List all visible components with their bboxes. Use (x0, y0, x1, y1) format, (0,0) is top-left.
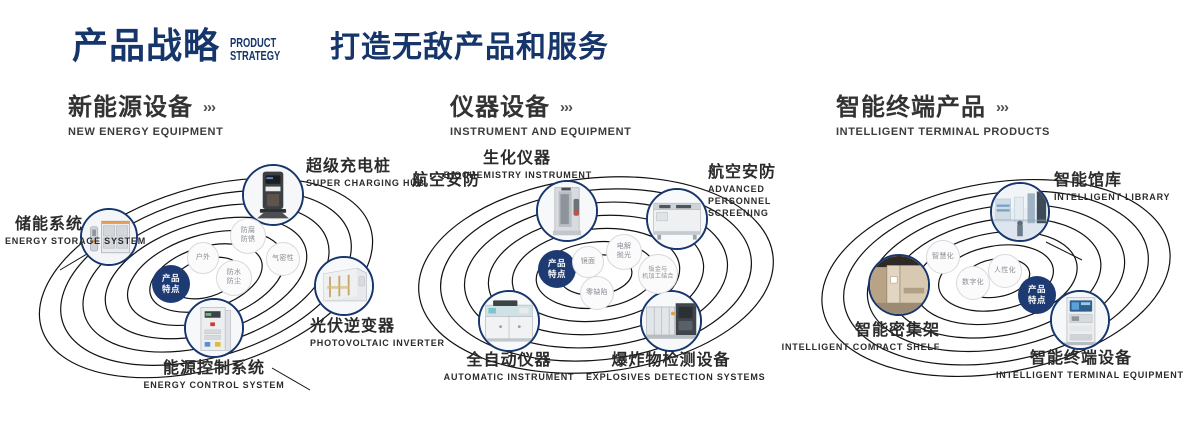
explosives-detector-icon (642, 292, 700, 350)
feature-bubble-zero-defect: 零缺陷 (580, 276, 614, 310)
page-title: 产品战略 PRODUCT STRATEGY (72, 28, 300, 64)
feature-core-bubble: 产品 特点 (538, 250, 576, 288)
feature-bubble-digital: 数字化 (956, 266, 990, 300)
section-heading-new-energy: 新能源设备 ››› NEW ENERGY EQUIPMENT (68, 95, 223, 138)
node-automatic-analyzer[interactable] (478, 290, 540, 352)
label-cn: 爆炸物检测设备 (586, 352, 756, 370)
section-title-en-intelligent-terminal: INTELLIGENT TERMINAL PRODUCTS (836, 126, 1050, 138)
node-self-service-kiosk[interactable] (1050, 290, 1110, 350)
library-room-icon (992, 184, 1048, 240)
label-explosives-detection-systems: 爆炸物检测设备 EXPLOSIVES DETECTION SYSTEMS (586, 352, 756, 384)
label-cn: 智能密集架 (780, 322, 940, 340)
label-en: ADVANCED PERSONNEL SCREENING (708, 184, 814, 219)
node-control-cabinet[interactable] (184, 298, 244, 358)
feature-core-bubble: 产品 特点 (1018, 276, 1056, 314)
feature-bubble-electropolishing: 电解 抛光 (606, 234, 642, 270)
cluster-intelligent-terminal: 智能馆库 INTELLIGENT LIBRARY 智能密集架 INTELLIGE… (800, 150, 1200, 400)
biochemistry-scanner-icon (538, 182, 596, 240)
node-library-room[interactable] (990, 182, 1050, 242)
label-en: INTELLIGENT LIBRARY (1054, 192, 1170, 204)
section-title-en-new-energy: NEW ENERGY EQUIPMENT (68, 126, 223, 138)
label-automatic-instrument: 全自动仪器 AUTOMATIC INSTRUMENT (424, 352, 594, 384)
label-biochemistry-instrument: 生化仪器 BIOCHEMISTRY INSTRUMENT (442, 150, 592, 182)
node-inverter-cabinet[interactable] (314, 256, 374, 316)
feature-line-1: 智慧化 (932, 253, 954, 262)
feature-line-2: 防锈 (241, 236, 256, 245)
page-title-cn: 产品战略 (72, 28, 220, 64)
label-energy-storage-system: 储能系统 ENERGY STORAGE SYSTEM (5, 216, 83, 248)
feature-line-1: 零缺陷 (586, 289, 608, 298)
cluster-new-energy: 储能系统 ENERGY STORAGE SYSTEM 超级充电桩 SUPER C… (10, 150, 410, 400)
label-intelligent-terminal-equipment: 智能终端设备 INTELLIGENT TERMINAL EQUIPMENT (996, 350, 1166, 382)
node-compact-shelf[interactable] (868, 254, 930, 316)
label-en: AUTOMATIC INSTRUMENT (424, 372, 594, 384)
label-en: ENERGY CONTROL SYSTEM (134, 380, 294, 392)
chevron-right-icon: ››› (560, 100, 572, 117)
label-cn: 能源控制系统 (134, 360, 294, 378)
automatic-analyzer-icon (480, 292, 538, 350)
core-line-1: 产品 (548, 258, 566, 269)
node-biochemistry-scanner[interactable] (536, 180, 598, 242)
label-intelligent-library: 智能馆库 INTELLIGENT LIBRARY (1054, 172, 1170, 204)
core-line-2: 特点 (162, 284, 180, 295)
page-title-en-line2: STRATEGY (230, 49, 280, 62)
feature-line-1: 户外 (196, 254, 211, 263)
label-en: EXPLOSIVES DETECTION SYSTEMS (586, 372, 756, 384)
core-line-1: 产品 (162, 273, 180, 284)
feature-line-2: 抛光 (617, 252, 632, 261)
node-screening-machine[interactable] (646, 188, 708, 250)
feature-bubble-waterproof: 防水 防尘 (216, 260, 252, 296)
label-en: INTELLIGENT TERMINAL EQUIPMENT (996, 370, 1166, 382)
screening-machine-icon (648, 190, 706, 248)
self-service-kiosk-icon (1052, 292, 1108, 348)
core-line-2: 特点 (1028, 295, 1046, 306)
node-charging-pile[interactable] (242, 164, 304, 226)
feature-bubble-mirror: 镜面 (572, 246, 604, 278)
section-title-cn-intelligent-terminal: 智能终端产品 (836, 95, 986, 121)
feature-bubble-humanized: 人性化 (988, 254, 1022, 288)
label-en: BIOCHEMISTRY INSTRUMENT (442, 170, 592, 182)
label-cn: 生化仪器 (442, 150, 592, 168)
feature-line-1: 人性化 (994, 267, 1016, 276)
page-subtitle: 打造无敌产品和服务 (330, 30, 609, 66)
feature-line-1: 钣金与 (649, 267, 668, 275)
feature-bubble-outdoor: 户外 (187, 242, 219, 274)
feature-line-1: 数字化 (962, 279, 984, 288)
control-cabinet-icon (186, 300, 242, 356)
feature-bubble-anticorrosion: 防腐 防锈 (230, 218, 266, 254)
feature-line-1: 气密性 (272, 255, 294, 264)
label-cn: 航空安防 (708, 164, 814, 182)
feature-bubble-smart: 智慧化 (926, 240, 960, 274)
section-heading-instrument: 仪器设备 ››› INSTRUMENT AND EQUIPMENT (450, 95, 631, 138)
section-title-en-instrument: INSTRUMENT AND EQUIPMENT (450, 126, 631, 138)
feature-line-2: 防尘 (227, 278, 242, 287)
label-en: ENERGY STORAGE SYSTEM (5, 236, 83, 248)
node-explosives-detector[interactable] (640, 290, 702, 352)
feature-line-1: 防腐 (241, 227, 256, 236)
chevron-right-icon: ››› (203, 100, 215, 117)
product-strategy-infographic: 产品战略 PRODUCT STRATEGY 打造无敌产品和服务 新能源设备 ››… (0, 0, 1200, 422)
label-intelligent-compact-shelf: 智能密集架 INTELLIGENT COMPACT SHELF (780, 322, 940, 354)
section-heading-intelligent-terminal: 智能终端产品 ››› INTELLIGENT TERMINAL PRODUCTS (836, 95, 1050, 138)
section-title-cn-instrument: 仪器设备 (450, 95, 550, 121)
feature-line-1: 防水 (227, 269, 242, 278)
label-advanced-personnel-screening: 航空安防 ADVANCED PERSONNEL SCREENING (708, 164, 814, 219)
feature-line-2: 机加工结合 (642, 274, 674, 282)
label-cn: 全自动仪器 (424, 352, 594, 370)
feature-bubble-sheetmetal-machining: 钣金与 机加工结合 (638, 254, 678, 294)
label-cn: 智能馆库 (1054, 172, 1170, 190)
chevron-right-icon: ››› (996, 100, 1008, 117)
label-cn: 智能终端设备 (996, 350, 1166, 368)
feature-line-1: 镜面 (581, 258, 596, 267)
label-cn: 储能系统 (5, 216, 83, 234)
feature-bubble-airtight: 气密性 (266, 242, 300, 276)
feature-line-1: 电解 (617, 243, 632, 252)
core-line-1: 产品 (1028, 284, 1046, 295)
inverter-cabinet-icon (316, 258, 372, 314)
label-en: INTELLIGENT COMPACT SHELF (780, 342, 940, 354)
section-title-cn-new-energy: 新能源设备 (68, 95, 193, 121)
compact-shelf-icon (870, 256, 928, 314)
feature-core-bubble: 产品 特点 (152, 265, 190, 303)
cluster-instrument: 航空安防 生化仪器 BIOCHEMISTRY INSTRUMENT (400, 150, 800, 400)
label-energy-control-system: 能源控制系统 ENERGY CONTROL SYSTEM (134, 360, 294, 392)
page-title-en: PRODUCT STRATEGY (230, 36, 280, 62)
charging-pile-icon (244, 166, 302, 224)
core-line-2: 特点 (548, 269, 566, 280)
